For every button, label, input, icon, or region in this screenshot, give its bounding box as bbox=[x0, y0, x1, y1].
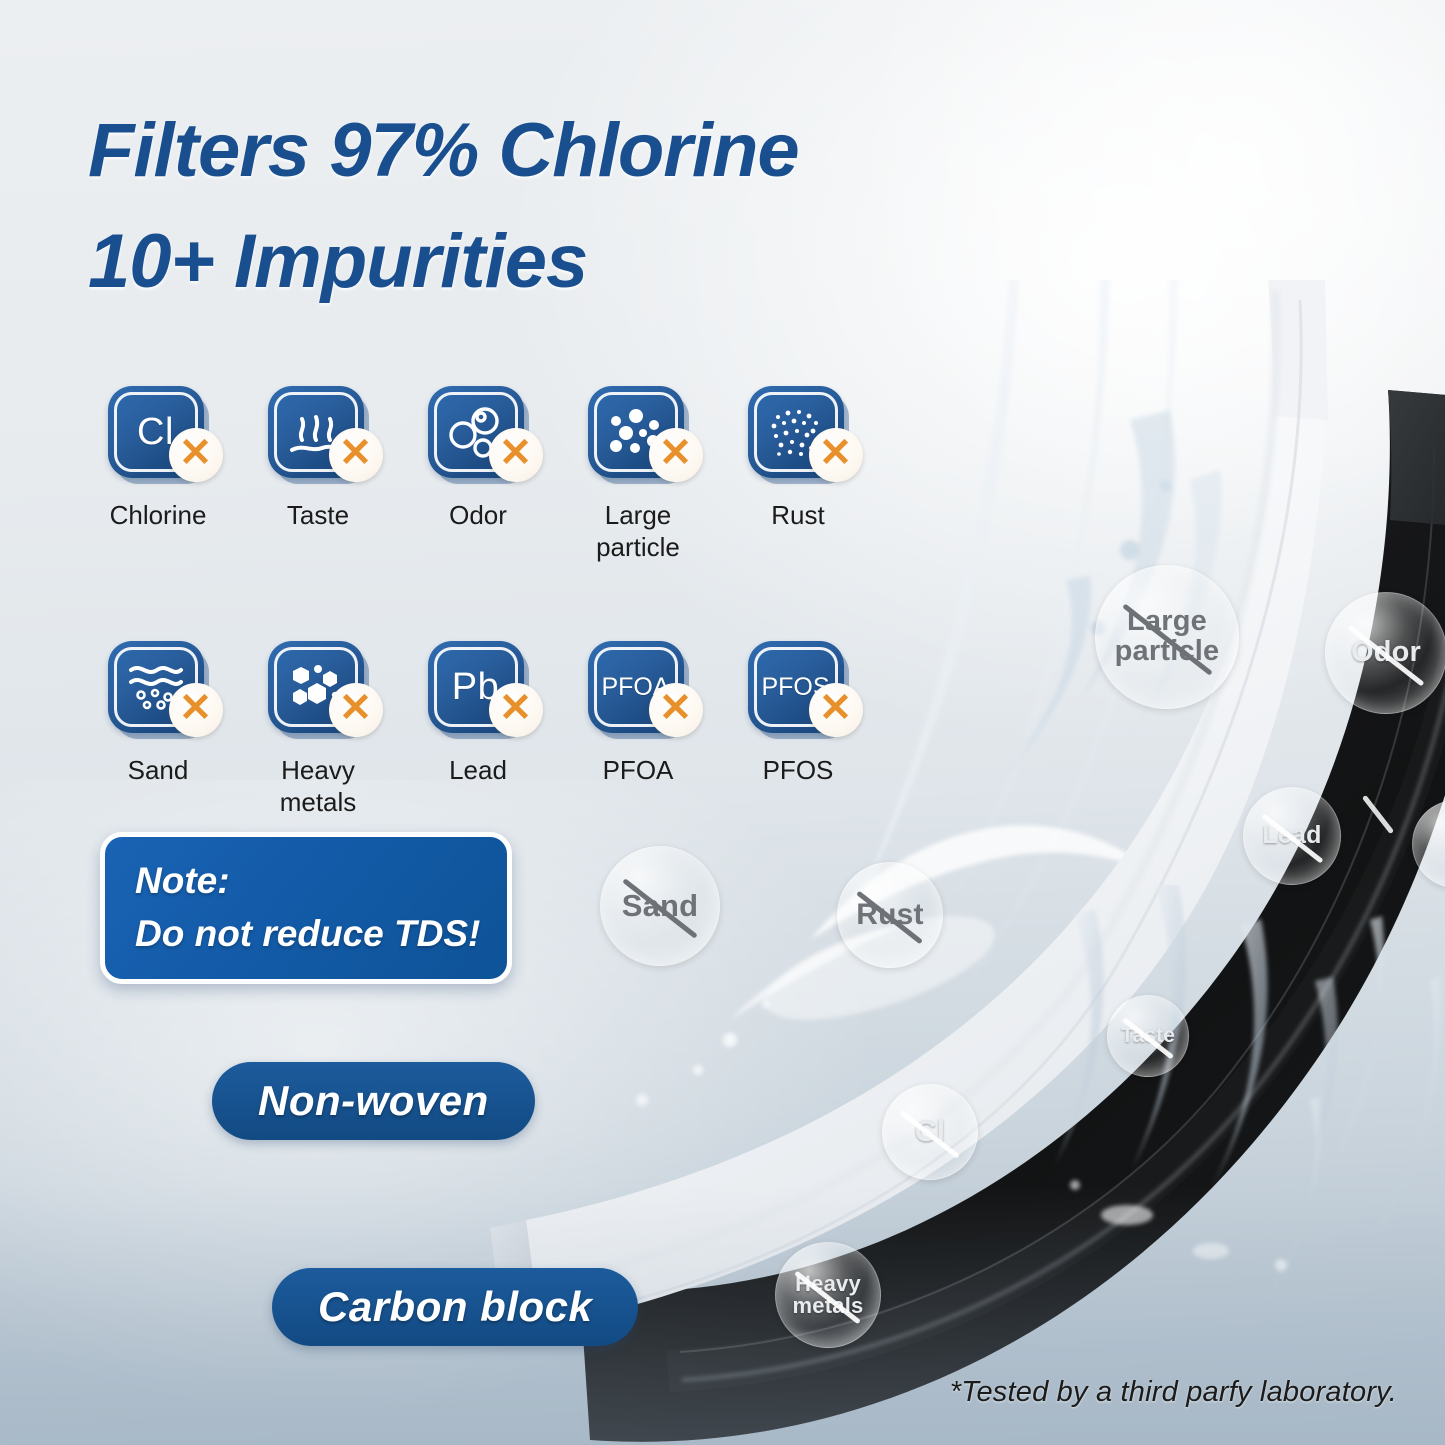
icon-cell-heavy-metals[interactable]: ✕ Heavy metals bbox=[238, 641, 398, 818]
note-title: Note: bbox=[135, 855, 477, 908]
icon-cell-taste[interactable]: ✕ Taste bbox=[238, 386, 398, 563]
page-title: Filters 97% Chlorine 10+ Impurities bbox=[88, 96, 1088, 318]
x-mark-icon: ✕ bbox=[499, 433, 533, 473]
icon-label: PFOA bbox=[603, 755, 674, 787]
icon-label-line-1: Heavy bbox=[281, 755, 355, 785]
highlight-tick bbox=[1362, 795, 1394, 834]
bubble-lead: Lead bbox=[1243, 787, 1341, 885]
icon-label: Heavy metals bbox=[280, 755, 357, 818]
x-mark-icon: ✕ bbox=[179, 433, 213, 473]
note-callout: Note: Do not reduce TDS! bbox=[100, 832, 512, 984]
icon-label: Large particle bbox=[596, 500, 680, 563]
icon-row-1: Cl ✕ Chlorine bbox=[78, 386, 878, 563]
bubble-heavy-metals: Heavy metals bbox=[775, 1242, 881, 1348]
product-feature-image: Filters 97% Chlorine 10+ Impurities Cl ✕… bbox=[0, 0, 1445, 1445]
blocked-badge: ✕ bbox=[329, 428, 383, 482]
headline-line-1: Filters 97% Chlorine bbox=[88, 108, 799, 193]
blocked-badge: ✕ bbox=[329, 683, 383, 737]
icon-label: Odor bbox=[449, 500, 507, 532]
x-mark-icon: ✕ bbox=[179, 688, 213, 728]
blocked-badge: ✕ bbox=[809, 428, 863, 482]
icon-cell-rust[interactable]: ✕ Rust bbox=[718, 386, 878, 563]
blocked-badge: ✕ bbox=[809, 683, 863, 737]
icon-label-line-2: metals bbox=[280, 787, 357, 817]
x-mark-icon: ✕ bbox=[659, 688, 693, 728]
contaminant-icon-grid: Cl ✕ Chlorine bbox=[78, 386, 878, 819]
x-mark-icon: ✕ bbox=[499, 688, 533, 728]
icon-label: Rust bbox=[771, 500, 824, 532]
x-mark-icon: ✕ bbox=[819, 688, 853, 728]
x-mark-icon: ✕ bbox=[339, 433, 373, 473]
icon-label: Taste bbox=[287, 500, 349, 532]
icon-label: Sand bbox=[128, 755, 189, 787]
bubble-label-line-1: Large bbox=[1127, 605, 1207, 637]
layer-label-carbon-block: Carbon block bbox=[272, 1268, 638, 1346]
bubble-chlorine: Cl bbox=[882, 1084, 978, 1180]
icon-label: Chlorine bbox=[110, 500, 207, 532]
x-mark-icon: ✕ bbox=[339, 688, 373, 728]
bubble-large-particle: Large particle bbox=[1095, 565, 1239, 709]
x-mark-icon: ✕ bbox=[819, 433, 853, 473]
x-mark-icon: ✕ bbox=[659, 433, 693, 473]
bubble-sand: Sand bbox=[600, 846, 720, 966]
bubble-taste: Taste bbox=[1107, 995, 1189, 1077]
blocked-badge: ✕ bbox=[649, 428, 703, 482]
blocked-badge: ✕ bbox=[489, 683, 543, 737]
chlorine-symbol: Cl bbox=[137, 413, 174, 451]
pill-text: Non-woven bbox=[258, 1080, 489, 1122]
water-streaks bbox=[1015, 885, 1445, 1405]
icon-cell-pfoa[interactable]: PFOA ✕ PFOA bbox=[558, 641, 718, 818]
icon-cell-odor[interactable]: ✕ Odor bbox=[398, 386, 558, 563]
icon-label-line-1: Large bbox=[605, 500, 672, 530]
pill-text: Carbon block bbox=[318, 1286, 592, 1328]
icon-cell-large-particle[interactable]: ✕ Large particle bbox=[558, 386, 718, 563]
blocked-badge: ✕ bbox=[169, 683, 223, 737]
bubble-edge-partial bbox=[1412, 800, 1445, 888]
icon-cell-pfos[interactable]: PFOS ✕ PFOS bbox=[718, 641, 878, 818]
note-body: Do not reduce TDS! bbox=[135, 908, 477, 961]
headline-line-2: 10+ Impurities bbox=[88, 207, 1088, 318]
icon-cell-lead[interactable]: Pb ✕ Lead bbox=[398, 641, 558, 818]
icon-label: PFOS bbox=[763, 755, 834, 787]
icon-label: Lead bbox=[449, 755, 507, 787]
icon-cell-chlorine[interactable]: Cl ✕ Chlorine bbox=[78, 386, 238, 563]
bubble-rust: Rust bbox=[837, 862, 943, 968]
bubble-odor: Odor bbox=[1325, 592, 1445, 714]
icon-cell-sand[interactable]: ✕ Sand bbox=[78, 641, 238, 818]
blocked-badge: ✕ bbox=[489, 428, 543, 482]
layer-label-non-woven: Non-woven bbox=[212, 1062, 535, 1140]
footnote-disclaimer: *Tested by a third parfy laboratory. bbox=[950, 1376, 1397, 1409]
blocked-badge: ✕ bbox=[649, 683, 703, 737]
blocked-badge: ✕ bbox=[169, 428, 223, 482]
icon-label-line-2: particle bbox=[596, 532, 680, 562]
icon-row-2: ✕ Sand bbox=[78, 641, 878, 818]
